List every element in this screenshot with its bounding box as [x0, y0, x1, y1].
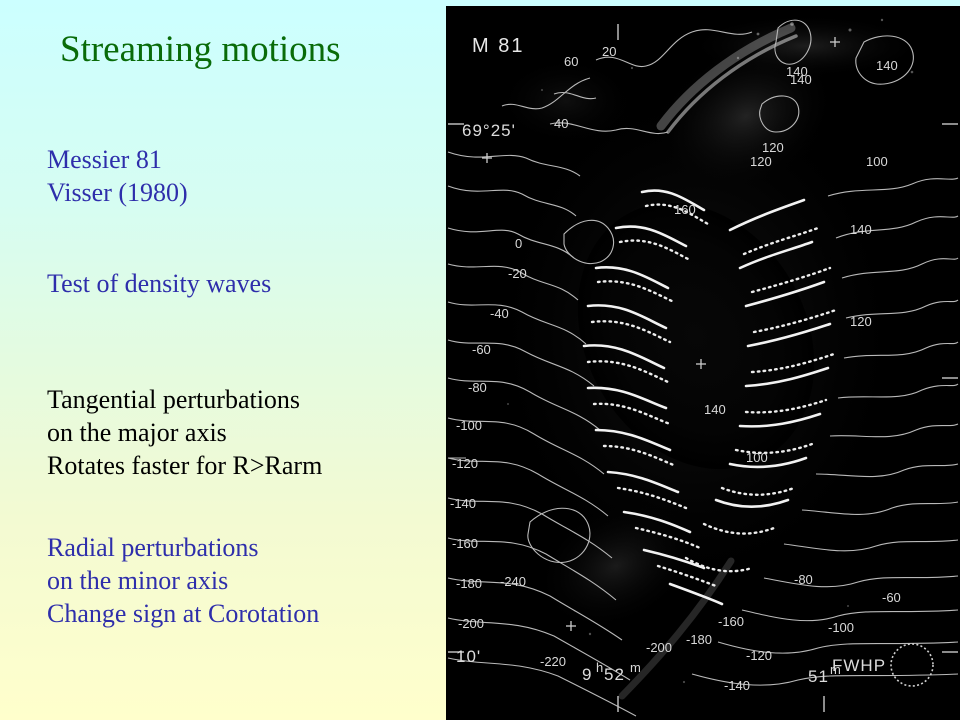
svg-text:-100: -100 [456, 418, 482, 433]
text-line-radial-1: Radial perturbations [47, 531, 319, 564]
text-block-object: Messier 81 Visser (1980) [47, 143, 188, 209]
page-title: Streaming motions [60, 28, 341, 71]
svg-text:-100: -100 [828, 620, 854, 635]
svg-text:-180: -180 [456, 576, 482, 591]
figure-dec-label-bottom: 10' [456, 647, 481, 666]
svg-text:-60: -60 [882, 590, 901, 605]
svg-text:140: 140 [850, 222, 872, 237]
svg-text:140: 140 [876, 58, 898, 73]
svg-text:-160: -160 [718, 614, 744, 629]
slide-canvas: Streaming motions Messier 81 Visser (198… [0, 0, 960, 720]
svg-text:-200: -200 [458, 616, 484, 631]
text-line-messier: Messier 81 [47, 143, 188, 176]
text-line-radial-2: on the minor axis [47, 564, 319, 597]
svg-text:140: 140 [790, 72, 812, 87]
svg-text:100: 100 [866, 154, 888, 169]
text-line-radial-3: Change sign at Corotation [47, 597, 319, 630]
svg-text:-240: -240 [500, 574, 526, 589]
svg-text:-220: -220 [540, 654, 566, 669]
svg-text:120: 120 [750, 154, 772, 169]
svg-text:-80: -80 [794, 572, 813, 587]
svg-text:120: 120 [850, 314, 872, 329]
svg-text:-60: -60 [472, 342, 491, 357]
figure-dec-label-top: 69°25' [462, 121, 516, 140]
svg-text:-80: -80 [468, 380, 487, 395]
svg-text:140: 140 [704, 402, 726, 417]
text-block-test: Test of density waves [47, 267, 271, 300]
text-block-tangential: Tangential perturbations on the major ax… [47, 383, 322, 482]
svg-text:40: 40 [554, 116, 568, 131]
text-line-tangential-1: Tangential perturbations [47, 383, 322, 416]
figure-object-label: M 81 [472, 35, 524, 57]
svg-text:-200: -200 [646, 640, 672, 655]
velocity-field-figure: M 81 69°25' 10' 9 h 52 m 51 m FWHP [446, 6, 960, 720]
text-line-tangential-3: Rotates faster for R>Rarm [47, 449, 322, 482]
svg-text:h: h [596, 660, 603, 675]
svg-text:60: 60 [564, 54, 578, 69]
svg-text:-40: -40 [490, 306, 509, 321]
text-line-visser: Visser (1980) [47, 176, 188, 209]
beam-label: FWHP [832, 656, 886, 675]
svg-text:120: 120 [762, 140, 784, 155]
svg-text:100: 100 [746, 450, 768, 465]
svg-text:-180: -180 [686, 632, 712, 647]
text-block-radial: Radial perturbations on the minor axis C… [47, 531, 319, 630]
svg-text:-20: -20 [508, 266, 527, 281]
svg-text:51: 51 [808, 667, 829, 686]
svg-text:0: 0 [515, 236, 522, 251]
text-line-tangential-2: on the major axis [47, 416, 322, 449]
svg-text:-160: -160 [452, 536, 478, 551]
text-panel: Streaming motions Messier 81 Visser (198… [0, 0, 440, 720]
svg-text:-140: -140 [450, 496, 476, 511]
svg-text:-120: -120 [452, 456, 478, 471]
svg-text:52: 52 [604, 665, 625, 684]
text-line-density-waves: Test of density waves [47, 267, 271, 300]
velocity-field-svg: M 81 69°25' 10' 9 h 52 m 51 m FWHP [446, 6, 960, 720]
svg-text:-120: -120 [746, 648, 772, 663]
svg-text:160: 160 [674, 202, 696, 217]
svg-text:20: 20 [602, 44, 616, 59]
svg-text:-140: -140 [724, 678, 750, 693]
svg-text:9: 9 [582, 665, 592, 684]
svg-text:m: m [630, 660, 641, 675]
